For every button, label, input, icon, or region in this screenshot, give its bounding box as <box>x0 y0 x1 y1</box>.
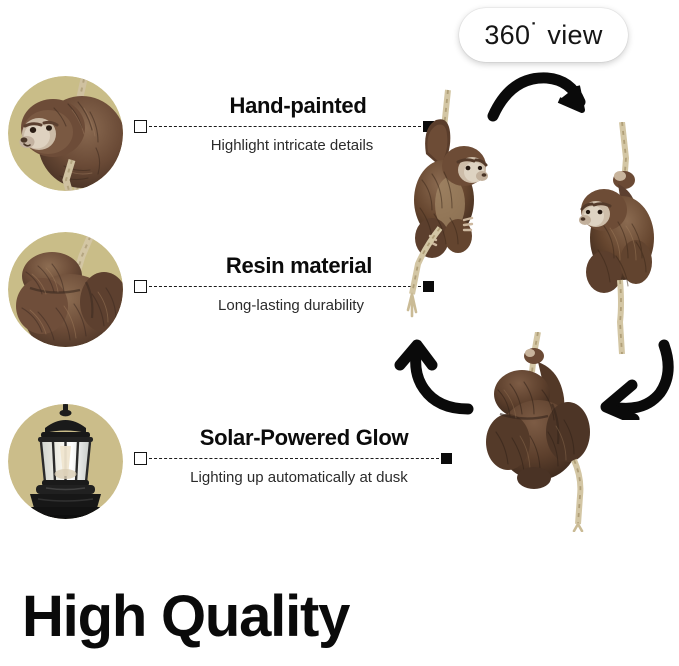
rotate-arrow-left-icon <box>390 335 480 420</box>
thumbnail-solar-lantern <box>8 404 123 519</box>
degree-icon: ˙ <box>530 18 539 48</box>
connector-start-marker-icon <box>134 280 147 293</box>
product-360-showcase <box>380 60 679 540</box>
feature-item-hand-painted: Hand-painted Highlight intricate details <box>0 72 440 232</box>
connector-start-marker-icon <box>134 452 147 465</box>
figure-sloth-back-view <box>476 332 606 532</box>
feature-item-resin-material: Resin material Long-lasting durability <box>0 232 440 392</box>
badge-number: 360 <box>484 20 530 50</box>
connector-start-marker-icon <box>134 120 147 133</box>
badge-360-view[interactable]: 360˙ view <box>459 8 628 62</box>
feature-item-solar-powered-glow: Solar-Powered Glow Lighting up automatic… <box>0 392 440 552</box>
rotate-arrow-right-icon <box>590 335 678 420</box>
thumbnail-sloth-head-closeup <box>8 76 123 191</box>
badge-360-view-label: 360˙ view <box>484 20 602 51</box>
figure-sloth-front-left-view <box>392 88 512 338</box>
badge-view-label: view <box>547 20 602 50</box>
thumbnail-sloth-body-texture <box>8 232 123 347</box>
page-headline: High Quality <box>22 588 349 646</box>
feature-list: Hand-painted Highlight intricate details <box>0 72 440 552</box>
